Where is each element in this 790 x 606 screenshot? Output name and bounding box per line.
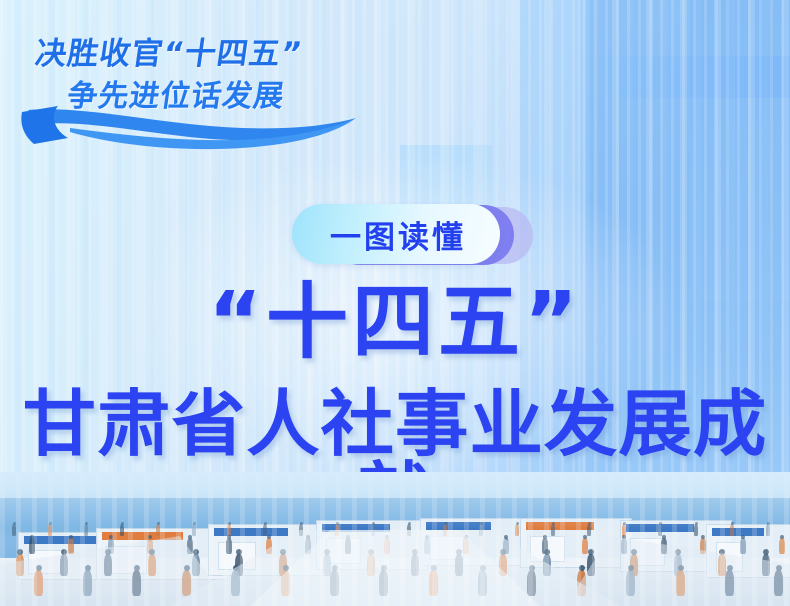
read-in-one-picture-badge[interactable]: 一图读懂 — [292, 204, 542, 266]
page-title: “十四五” — [0, 282, 790, 364]
job-fair-illustration — [0, 472, 790, 606]
badge-pill: 一图读懂 — [292, 204, 500, 264]
logo-line-1: 决胜收官“十四五” — [33, 28, 306, 73]
wave-ribbon-icon — [20, 104, 360, 150]
poster-canvas: 决胜收官“十四五” 争先进位话发展 一图读懂 “十四五” 甘肃省人社事业发展成就 — [0, 0, 790, 606]
scene-top-fade — [0, 472, 790, 606]
badge-label: 一图读懂 — [326, 212, 466, 257]
campaign-logo: 决胜收官“十四五” 争先进位话发展 — [20, 16, 360, 146]
